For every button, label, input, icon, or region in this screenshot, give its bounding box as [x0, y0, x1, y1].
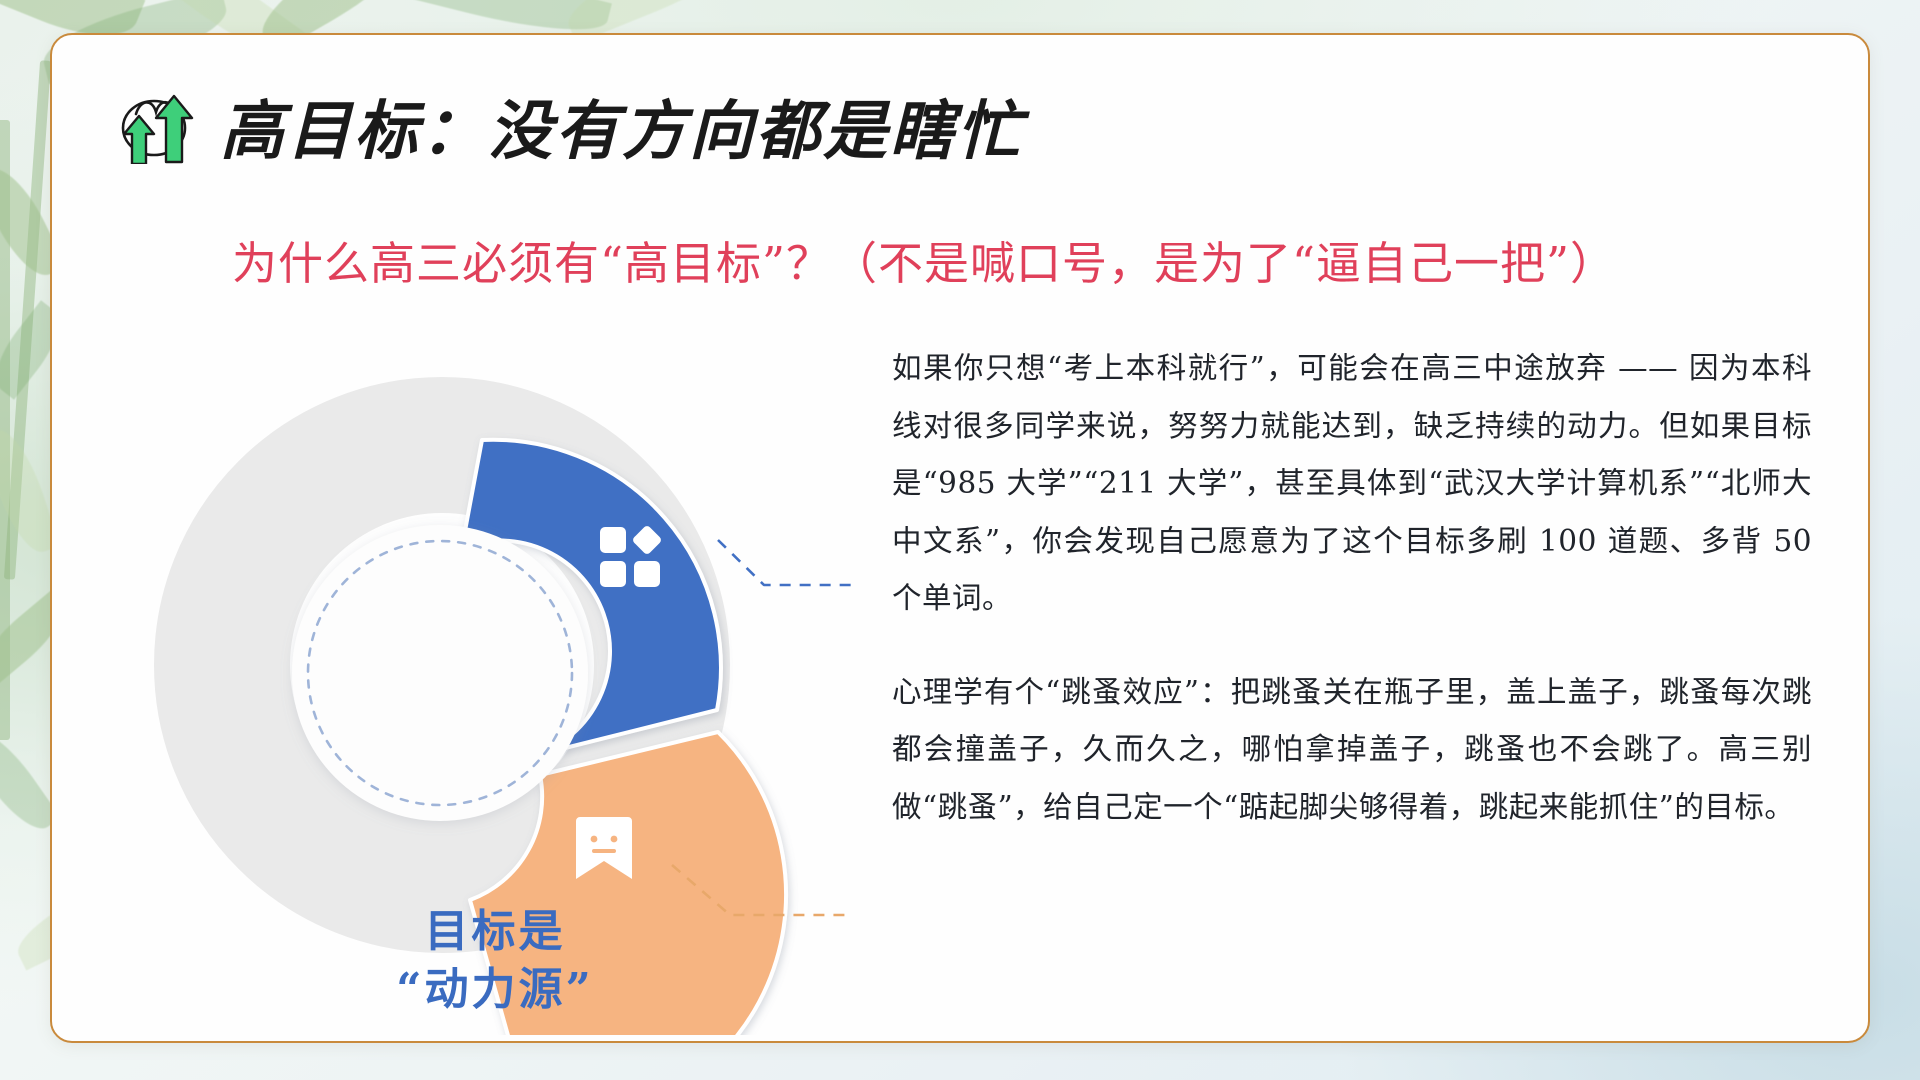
slide-subtitle: 为什么高三必须有“高目标”？（不是喊口号，是为了“逼自己一把”） — [232, 235, 1862, 293]
connector-line-blue — [718, 540, 852, 585]
body-paragraph-2: 心理学有个“跳蚤效应”：把跳蚤关在瓶子里，盖上盖子，跳蚤每次跳都会撞盖子，久而久… — [892, 664, 1812, 837]
body-text-column: 如果你只想“考上本科就行”，可能会在高三中途放弃 —— 因为本科线对很多同学来说… — [892, 340, 1812, 836]
slide-title-row: 高目标：没有方向都是瞎忙 — [114, 80, 1024, 172]
growth-arrows-icon — [114, 84, 198, 169]
donut-center-disc — [292, 525, 588, 821]
body-paragraph-1: 如果你只想“考上本科就行”，可能会在高三中途放弃 —— 因为本科线对很多同学来说… — [892, 340, 1812, 628]
donut-chart: 目标是 “动力源” — [152, 355, 852, 1035]
page-title: 高目标：没有方向都是瞎忙 — [220, 80, 1024, 172]
slide-card: 高目标：没有方向都是瞎忙 为什么高三必须有“高目标”？（不是喊口号，是为了“逼自… — [50, 33, 1870, 1043]
